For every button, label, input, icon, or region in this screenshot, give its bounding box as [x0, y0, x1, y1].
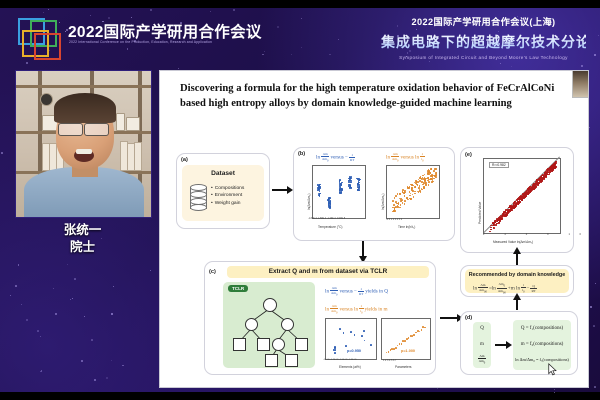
- panel-e-parity-plot: [483, 158, 561, 234]
- panel-b-left-ylabel: ln(Δm/Δm₀): [307, 194, 311, 210]
- tree-leaf-5: [285, 354, 298, 367]
- speaker-caption: 张统一 院士: [15, 222, 150, 256]
- panel-d-output-0: Q = f₁(compositions): [513, 326, 571, 331]
- panel-b-right-xlabel: Time ln(h/t₀): [398, 225, 415, 229]
- panel-d-input-1: m: [473, 342, 491, 347]
- speaker-name: 张统一: [15, 222, 150, 239]
- arrow-d-to-rec: [516, 299, 518, 310]
- panel-d-output-1: m = f₂(compositions): [513, 342, 571, 347]
- panel-b-left-xticks: -1.80E-4 -1.50E-4 -1.20E-4 -9.00E-5: [308, 218, 345, 220]
- panel-c: (c) Extract Q and m from dataset via TCL…: [204, 261, 436, 375]
- recommended-formula: lnΔmΔm00=lnΔm0Δm00+m lntt0−QRT: [473, 282, 538, 294]
- panel-c-m-xticks: 1 2 3 4 5 6 7: [383, 359, 396, 362]
- speaker-teeth: [76, 149, 92, 154]
- panel-b-eq-left: lnΔmΔm0versus −1RT: [316, 152, 356, 163]
- panel-c-m-xlabel: Parameters: [395, 365, 411, 369]
- panel-c-plot-m: [381, 318, 431, 360]
- slide-thumbnail: [572, 70, 589, 98]
- arrow-a-to-b: [272, 189, 288, 191]
- tree-leaf-1: [233, 338, 246, 351]
- panel-c-eq-m: lnΔmΔm0versus ln1t0yields in m: [325, 304, 388, 315]
- dataset-bullet-2: Weight gain: [211, 200, 244, 207]
- slide-title: Discovering a formula for the high tempe…: [180, 82, 558, 111]
- presentation-slide[interactable]: Discovering a formula for the high tempe…: [159, 70, 589, 388]
- panel-e-label: (e): [465, 152, 472, 158]
- glasses-right: [84, 123, 109, 136]
- panel-d-outputs: Q = f₁(compositions) m = f₂(compositions…: [513, 320, 571, 370]
- dataset-bullet-1: Environment: [211, 192, 244, 199]
- panel-b: (b) lnΔmΔm0versus −1RT lnΔmΔm0versus ln1…: [293, 147, 455, 241]
- header-left: 2022国际产学研用合作会议 2022 International Confer…: [16, 14, 266, 66]
- panel-c-plot-q: [325, 318, 377, 360]
- panel-c-label: (c): [209, 269, 216, 275]
- speaker-video[interactable]: [15, 70, 152, 218]
- arrow-b-to-c: [362, 241, 364, 257]
- header-right-line2: 集成电路下的超越摩尔技术分论坛: [381, 32, 586, 52]
- tree-leaf-4: [265, 354, 278, 367]
- panel-d: (d) Q m ΔmΔm0 Q = f₁(compositions) m = f…: [460, 311, 578, 375]
- panel-d-inputs: Q m ΔmΔm0: [473, 322, 491, 368]
- header-left-title-en: 2022 International Conference on the Pro…: [69, 40, 284, 45]
- panel-b-eq-right: lnΔmΔm0versus ln1t0: [386, 152, 426, 163]
- panel-b-label: (b): [298, 151, 305, 157]
- header-left-title-cn: 2022国际产学研用合作会议: [68, 20, 262, 42]
- dataset-box: Dataset Compositions Environment Weight …: [182, 165, 264, 221]
- arrow-rec-to-e: [516, 253, 518, 265]
- panel-a-label: (a): [181, 157, 188, 163]
- header-right: 2022国际产学研用合作会议(上海) 集成电路下的超越摩尔技术分论坛 Sympo…: [381, 14, 586, 60]
- arrow-d-inner: [495, 344, 507, 346]
- header-right-line1: 2022国际产学研用合作会议(上海): [381, 14, 586, 28]
- database-icon: [190, 184, 205, 210]
- panel-d-label: (d): [465, 315, 472, 321]
- speaker-hair: [54, 93, 116, 123]
- tree-node-root: [263, 298, 277, 312]
- panel-c-pvalue-q: p=0.950: [347, 349, 361, 353]
- panel-c-q-xlabel: Elements (at%): [339, 365, 361, 369]
- recommended-caption: Recommended by domain knowledge: [465, 272, 569, 278]
- panel-e-xlabel: Measured Value ln(Δm/Δm₀): [493, 240, 533, 244]
- panel-c-q-xticks: -1E-05 -1.2E-05 -1.5E-05 -1.8E-05: [323, 359, 357, 361]
- tclr-tree-box: TCLR: [223, 282, 315, 368]
- header-right-line3: Symposium of Integrated Circuit and Beyo…: [381, 55, 586, 60]
- screen-root: 2022国际产学研用合作会议 2022 International Confer…: [0, 0, 600, 400]
- glasses-left: [58, 123, 83, 136]
- tree-node-2: [281, 318, 294, 331]
- panel-b-right-ylabel: ln(Δm/Δm₀): [381, 194, 385, 210]
- panel-b-right-xticks: -1 0 1 2 3 4 5 6: [386, 218, 402, 221]
- panel-b-plot-right: [386, 165, 440, 219]
- panel-d-output-2: ln Δm/Δm₀ = f₃(compositions): [513, 357, 571, 362]
- panel-d-input-2: ΔmΔm0: [473, 354, 491, 365]
- panel-c-eq-q: lnΔmΔm0versus −1RTyields in Q: [325, 286, 388, 297]
- panel-e-ylabel: Predicted Value: [478, 202, 482, 224]
- dataset-title: Dataset: [182, 170, 264, 177]
- panel-e-xticks: 2 4 6 8 101: [483, 233, 589, 236]
- speaker-title: 院士: [15, 239, 150, 256]
- recommended-box: Recommended by domain knowledge lnΔmΔm00…: [465, 269, 569, 293]
- panel-a: (a) Dataset Compositions Environment Wei…: [176, 153, 270, 229]
- conference-logo: [16, 18, 62, 62]
- tree-node-3: [272, 338, 285, 351]
- panel-c-pvalue-m: p=1.000: [401, 349, 415, 353]
- tree-leaf-3: [295, 338, 308, 351]
- dataset-bullet-0: Compositions: [211, 185, 244, 192]
- panel-b-left-xlabel: Temperature (°C): [318, 225, 342, 229]
- arrow-c-to-d: [440, 317, 458, 319]
- panel-b-plot-left: [312, 165, 366, 219]
- panel-c-banner: Extract Q and m from dataset via TCLR: [227, 266, 429, 278]
- panel-e: (e) R²=0.982 Measured Value ln(Δm/Δm₀) P…: [460, 147, 574, 253]
- tree-node-1: [245, 318, 258, 331]
- tree-leaf-2: [257, 338, 270, 351]
- dataset-bullets: Compositions Environment Weight gain: [211, 185, 244, 207]
- panel-d-input-0: Q: [473, 326, 491, 331]
- panel-e-r2-badge: R²=0.982: [489, 162, 509, 168]
